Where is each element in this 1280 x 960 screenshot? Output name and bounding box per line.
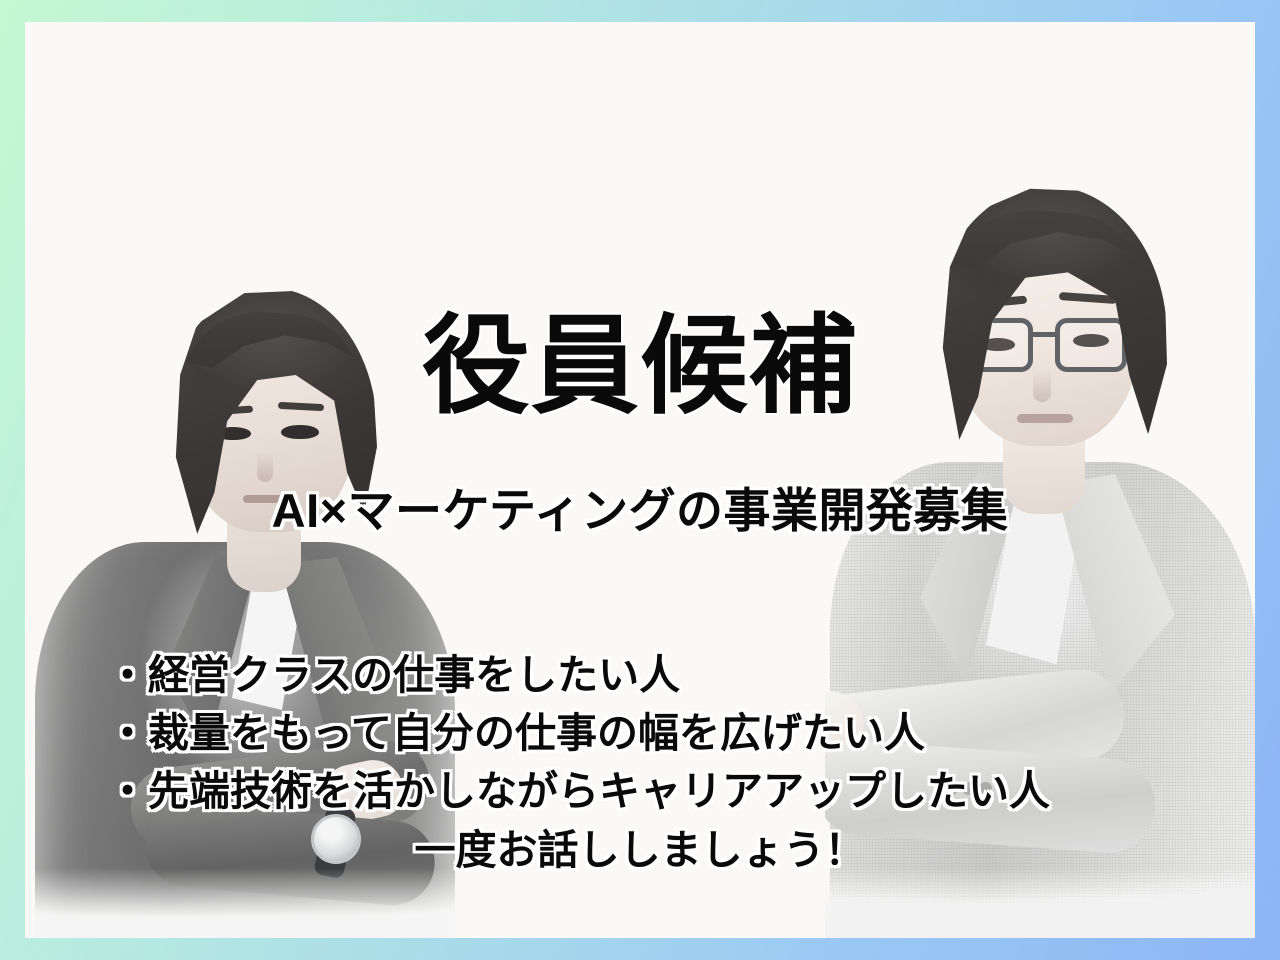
poster-canvas: 役員候補 AI×マーケティングの事業開発募集 ・経営クラスの仕事をしたい人 ・裁…: [25, 22, 1255, 938]
list-item: ・先端技術を活かしながらキャリアアップしたい人: [107, 762, 1177, 820]
bullet-list: ・経営クラスの仕事をしたい人 ・裁量をもって自分の仕事の幅を広げたい人 ・先端技…: [107, 646, 1177, 821]
list-item: ・裁量をもって自分の仕事の幅を広げたい人: [107, 704, 1177, 762]
closing-call-to-action: 一度お話ししましょう！: [25, 826, 1255, 875]
recruitment-poster: 役員候補 AI×マーケティングの事業開発募集 ・経営クラスの仕事をしたい人 ・裁…: [0, 0, 1280, 960]
list-item: ・経営クラスの仕事をしたい人: [107, 646, 1177, 704]
page-title: 役員候補: [25, 312, 1255, 420]
poster-text-layer: 役員候補 AI×マーケティングの事業開発募集 ・経営クラスの仕事をしたい人 ・裁…: [25, 22, 1255, 938]
subtitle: AI×マーケティングの事業開発募集: [25, 484, 1255, 538]
